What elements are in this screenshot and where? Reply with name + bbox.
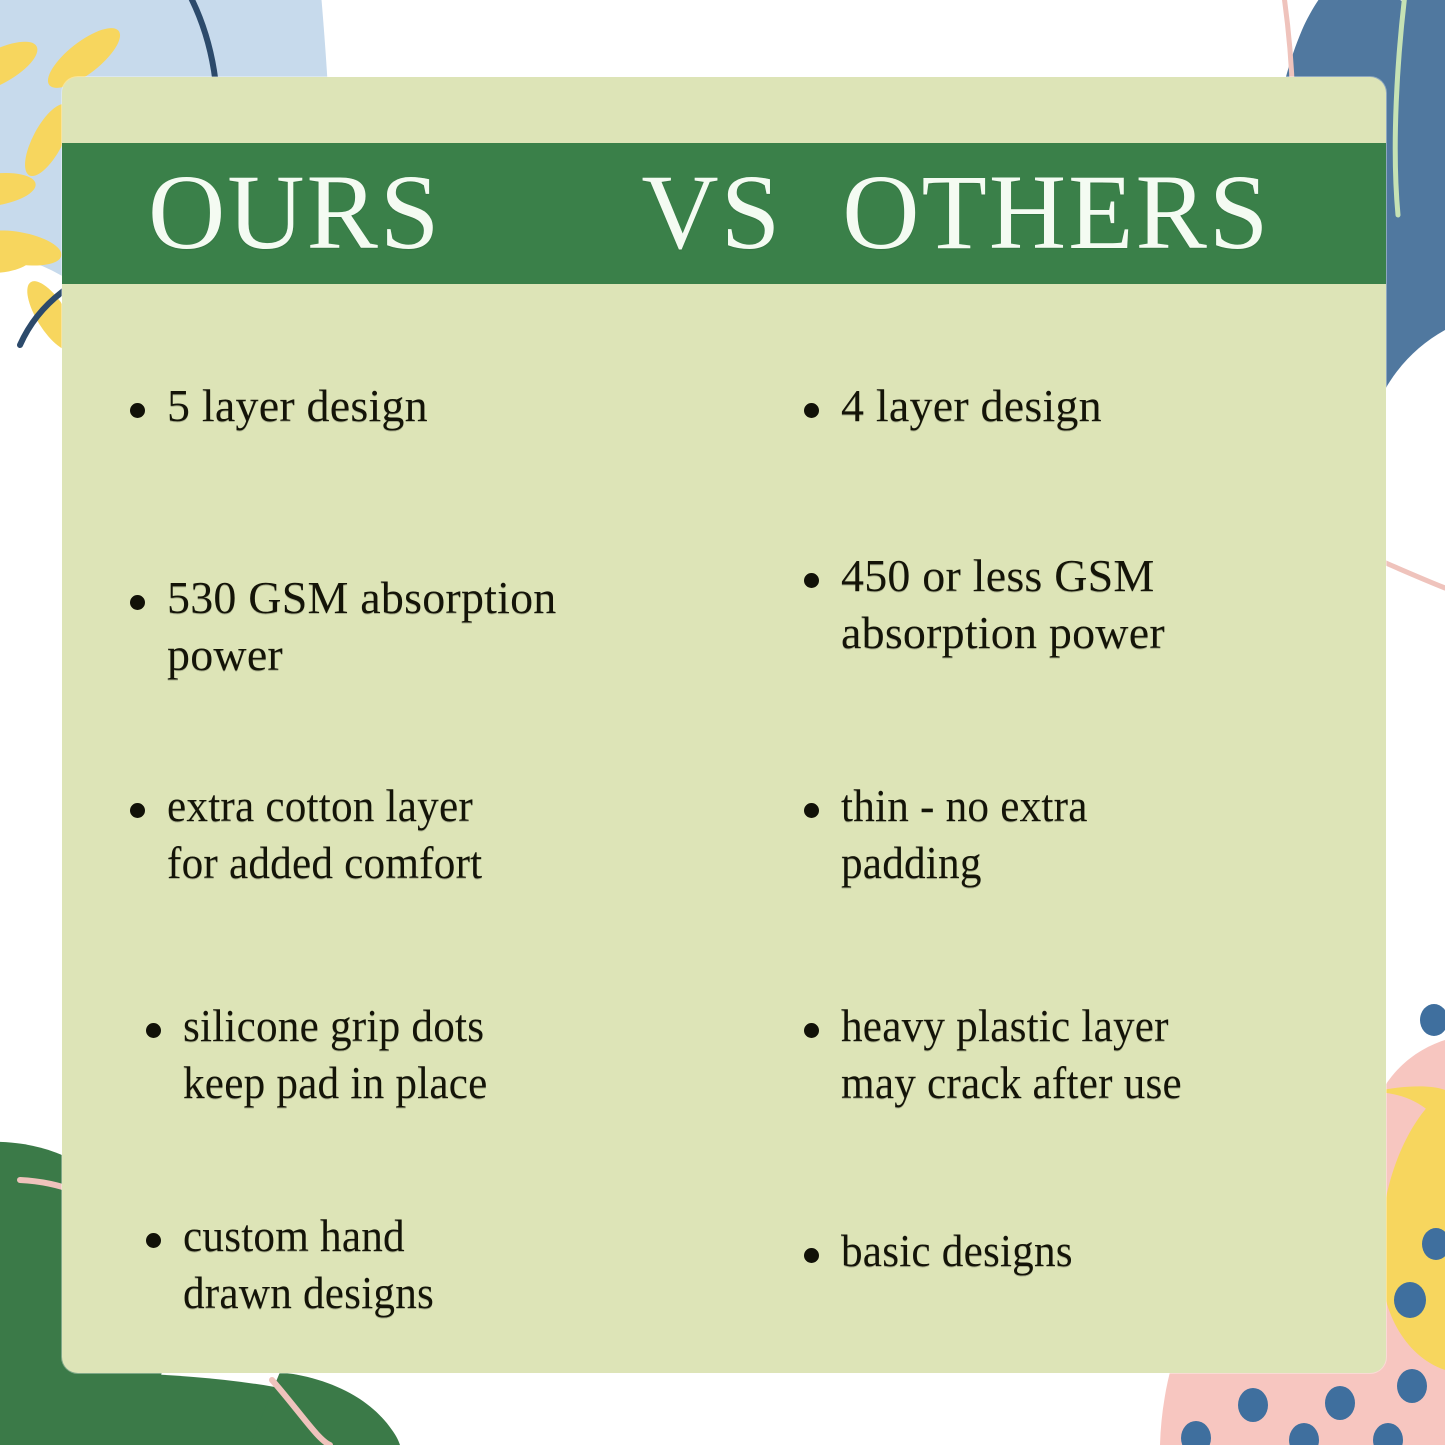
comparison-card: OURS VS OTHERS 5 layer design 530 GSM ab… — [62, 77, 1386, 1373]
list-item: 5 layer design — [130, 377, 428, 434]
bullet-dot-icon — [130, 803, 145, 818]
header-others-label: OTHERS — [842, 160, 1270, 267]
bullet-dot-icon — [804, 403, 819, 418]
list-item-label: 5 layer design — [167, 377, 428, 434]
header-vs-label: VS — [641, 160, 782, 267]
list-item: heavy plastic layer may crack after use — [804, 997, 1204, 1111]
list-item: 530 GSM absorption power — [130, 569, 557, 683]
list-item-label: 4 layer design — [841, 377, 1102, 434]
list-item-label: thin - no extra padding — [841, 777, 1088, 891]
comparison-header-band: OURS VS OTHERS — [62, 143, 1386, 284]
header-title-row: OURS VS OTHERS — [62, 160, 1386, 267]
list-item: custom hand drawn designs — [146, 1207, 450, 1321]
bullet-dot-icon — [804, 1023, 819, 1038]
list-item-label: custom hand drawn designs — [183, 1207, 434, 1321]
list-item-label: extra cotton layer for added comfort — [167, 777, 482, 891]
bullet-dot-icon — [146, 1023, 161, 1038]
column-others: 4 layer design 450 or less GSM absorptio… — [742, 377, 1386, 1373]
list-item: 4 layer design — [804, 377, 1102, 434]
list-item: basic designs — [804, 1222, 1088, 1279]
header-ours-label: OURS — [148, 160, 441, 267]
list-item-label: silicone grip dots keep pad in place — [183, 997, 488, 1111]
bullet-dot-icon — [804, 1248, 819, 1263]
list-item-label: 450 or less GSM absorption power — [841, 547, 1165, 661]
list-item-label: 530 GSM absorption power — [167, 569, 557, 683]
column-ours: 5 layer design 530 GSM absorption power … — [62, 377, 742, 1373]
bullet-dot-icon — [130, 403, 145, 418]
list-item: 450 or less GSM absorption power — [804, 547, 1165, 661]
list-item-label: heavy plastic layer may crack after use — [841, 997, 1182, 1111]
bullet-dot-icon — [804, 573, 819, 588]
list-item: silicone grip dots keep pad in place — [146, 997, 507, 1111]
list-item: thin - no extra padding — [804, 777, 1103, 891]
list-item: extra cotton layer for added comfort — [130, 777, 503, 891]
bullet-dot-icon — [130, 595, 145, 610]
comparison-columns: 5 layer design 530 GSM absorption power … — [62, 377, 1386, 1373]
list-item-label: basic designs — [841, 1222, 1073, 1279]
bullet-dot-icon — [804, 803, 819, 818]
bullet-dot-icon — [146, 1233, 161, 1248]
